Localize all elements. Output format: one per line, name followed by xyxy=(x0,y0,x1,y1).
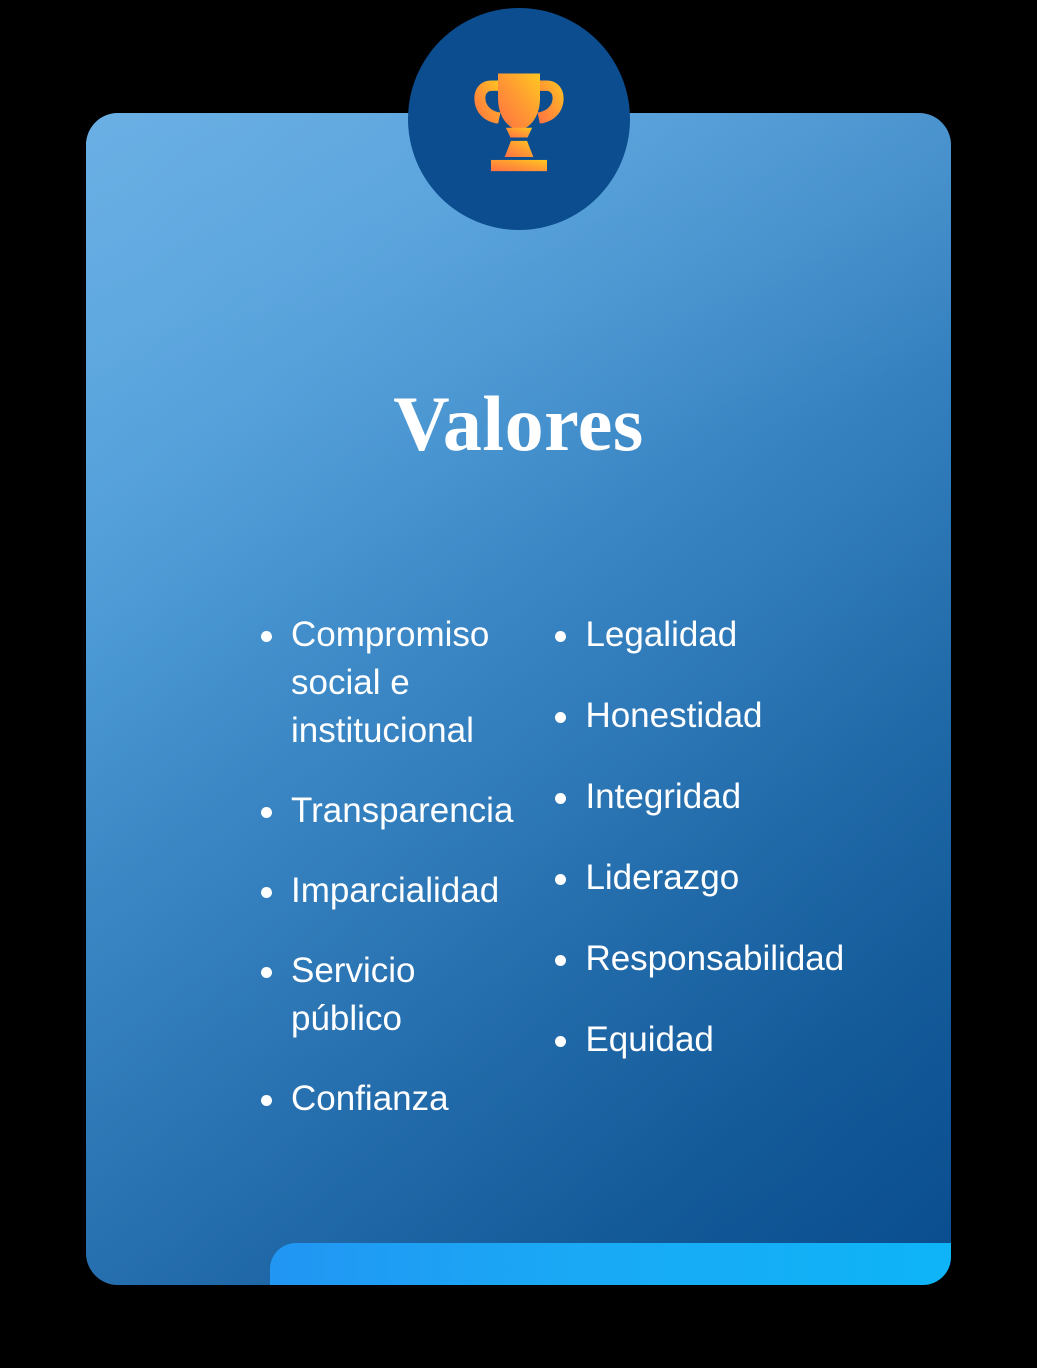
badge-circle xyxy=(408,8,630,230)
page-title: Valores xyxy=(86,385,951,463)
list-item: Imparcialidad xyxy=(261,867,513,915)
list-item: Honestidad xyxy=(555,692,951,740)
values-card: Valores Compromiso social e instituciona… xyxy=(86,113,951,1285)
bottom-accent-bar xyxy=(270,1243,951,1285)
list-item: Integridad xyxy=(555,773,951,821)
values-columns: Compromiso social e institucional Transp… xyxy=(86,611,951,1155)
list-item: Liderazgo xyxy=(555,854,951,902)
list-item: Legalidad xyxy=(555,611,951,659)
values-column-left: Compromiso social e institucional Transp… xyxy=(86,611,513,1155)
trophy-icon xyxy=(463,63,575,175)
values-column-right: Legalidad Honestidad Integridad Liderazg… xyxy=(513,611,951,1155)
list-item: Compromiso social e institucional xyxy=(261,611,513,755)
list-item: Equidad xyxy=(555,1016,951,1064)
list-item: Transparencia xyxy=(261,787,513,835)
list-item: Responsabilidad xyxy=(555,935,951,983)
list-item: Confianza xyxy=(261,1075,513,1123)
list-item: Servicio público xyxy=(261,947,513,1043)
